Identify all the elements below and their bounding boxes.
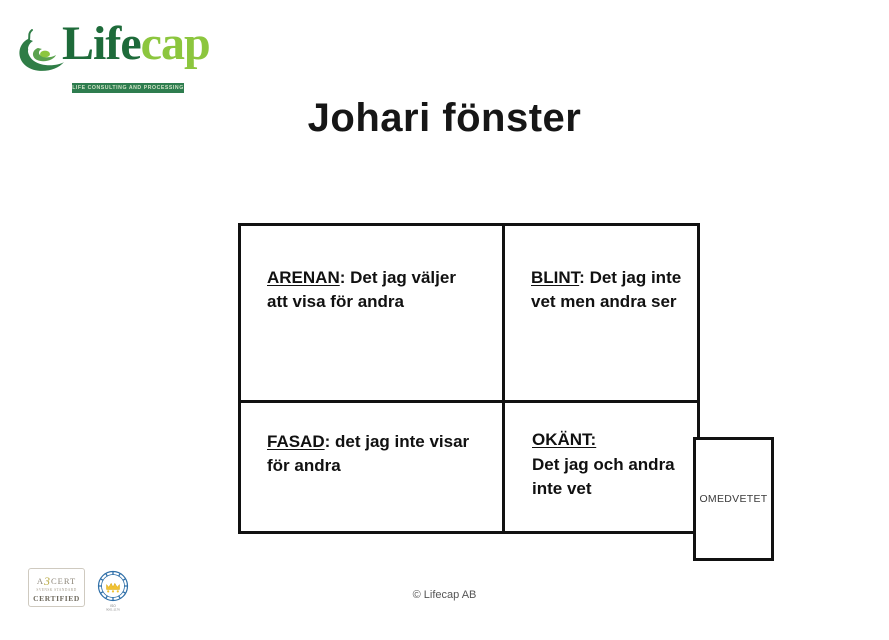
a3cert-badge-icon: A3CERT SVENSK STANDARD CERTIFIED	[28, 568, 85, 607]
quadrant-unknown-text: OKÄNT:Det jag och andra inte vet	[532, 428, 682, 502]
certification-badges: A3CERT SVENSK STANDARD CERTIFIED	[28, 566, 138, 612]
quadrant-unknown-description: Det jag och andra inte vet	[532, 455, 675, 499]
quadrant-arena-term: ARENAN	[267, 268, 340, 287]
quadrant-unknown-term: OKÄNT:	[532, 430, 596, 449]
quadrant-blind-separator: :	[579, 268, 589, 287]
quadrant-arena: ARENAN: Det jag väljer att visa för andr…	[241, 226, 505, 403]
quadrant-blind: BLINT: Det jag inte vet men andra ser	[505, 226, 697, 403]
a3cert-letter-a: A	[37, 576, 44, 586]
lifecap-wordmark: Lifecap	[62, 20, 210, 68]
lifecap-logo: Lifecap LIFE CONSULTING AND PROCESSING	[14, 18, 214, 88]
slide-canvas: Lifecap LIFE CONSULTING AND PROCESSING J…	[0, 0, 889, 640]
quadrant-facade-separator: :	[325, 432, 335, 451]
quadrant-facade-term: FASAD	[267, 432, 325, 451]
wordmark-cap: cap	[141, 17, 210, 70]
a3cert-numeral: 3	[44, 574, 51, 588]
a3cert-certified-text: CERTIFIED	[29, 594, 84, 603]
a3cert-top-text: A3CERT	[29, 574, 84, 589]
swedish-registrar-seal-icon: ISO 9001:1176	[90, 566, 136, 612]
quadrant-facade: FASAD: det jag inte visar för andra	[241, 403, 505, 531]
quadrant-blind-term: BLINT	[531, 268, 579, 287]
page-title: Johari fönster	[0, 96, 889, 141]
logo-tagline-bar: LIFE CONSULTING AND PROCESSING	[72, 83, 184, 93]
omedvetet-label: OMEDVETET	[696, 493, 771, 505]
quadrant-arena-text: ARENAN: Det jag väljer att visa för andr…	[267, 266, 472, 314]
quadrant-unknown: OKÄNT:Det jag och andra inte vet	[505, 403, 697, 531]
a3cert-standard-line: SVENSK STANDARD	[29, 588, 84, 592]
quadrant-arena-separator: :	[340, 268, 350, 287]
seal-sub-text-2: 9001:1176	[106, 607, 120, 611]
a3cert-cert-text: CERT	[51, 576, 76, 586]
wordmark-life: Life	[62, 17, 141, 70]
quadrant-facade-text: FASAD: det jag inte visar för andra	[267, 430, 482, 478]
quadrant-blind-text: BLINT: Det jag inte vet men andra ser	[531, 266, 686, 314]
logo-tagline: LIFE CONSULTING AND PROCESSING	[72, 83, 184, 93]
omedvetet-box: OMEDVETET	[693, 437, 774, 561]
johari-window-grid: ARENAN: Det jag väljer att visa för andr…	[238, 223, 700, 534]
